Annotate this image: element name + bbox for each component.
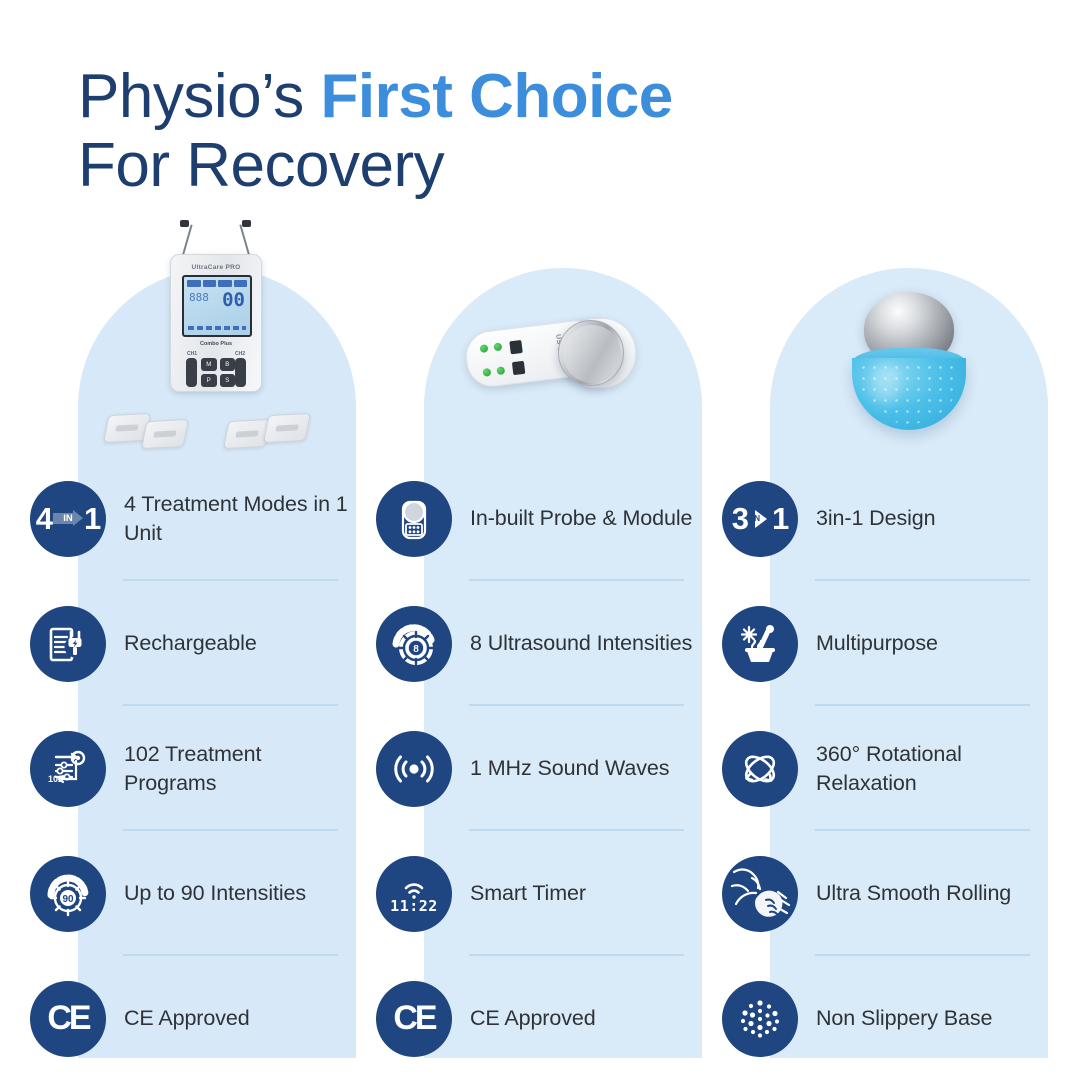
feature-row: CE CE Approved [424, 956, 702, 1080]
intensity-dial-icon: 90 [30, 856, 106, 932]
feature-label: Smart Timer [470, 879, 586, 907]
feature-row: 360° Rotational Relaxation [770, 706, 1048, 831]
badge-mid-text: IN [63, 513, 73, 524]
four-in-one-icon: 4 IN 1 [30, 481, 106, 557]
intensity-key-left [186, 358, 197, 387]
feature-label: Up to 90 Intensities [124, 879, 306, 907]
massage-hands-icon [722, 856, 798, 932]
feature-row: Ultra Smooth Rolling [770, 831, 1048, 956]
feature-row: Rechargeable [78, 581, 356, 706]
feature-row: 3 IN 1 3in-1 Design [770, 456, 1048, 581]
treatment-programs-settings-icon: 102 [30, 731, 106, 807]
key-b: B [220, 358, 236, 371]
hot-cold-multipurpose-icon [722, 606, 798, 682]
infographic-canvas: Physio’s First Choice For Recovery Ultra… [0, 0, 1080, 1080]
product-image-ultrasound-device: US 111 [424, 268, 702, 456]
key-s: S [220, 374, 236, 387]
ce-mark-text: CE [47, 999, 88, 1038]
badge-num-secondary: 1 [84, 501, 100, 537]
three-in-one-icon: 3 IN 1 [722, 481, 798, 557]
lcd-secondary-value: 888 [189, 292, 209, 304]
feature-label: Multipurpose [816, 629, 938, 657]
feature-list: 4 IN 1 4 Treatment Modes in 1 Unit [78, 456, 356, 1080]
probe-module-device-icon [376, 481, 452, 557]
feature-list: In-built Probe & Module [424, 456, 702, 1080]
sound-waves-icon [376, 731, 452, 807]
feature-label: 3in-1 Design [816, 504, 936, 532]
feature-label: 360° Rotational Relaxation [816, 740, 1048, 797]
page-title: Physio’s First Choice For Recovery [78, 62, 978, 201]
ultrasound-intensity-dial-icon: 8 [376, 606, 452, 682]
feature-row: 8 8 Ultrasound Intensities [424, 581, 702, 706]
intensity-key-right [235, 358, 246, 387]
feature-row: 4 IN 1 4 Treatment Modes in 1 Unit [78, 456, 356, 581]
ce-mark-icon: CE [30, 981, 106, 1057]
dotted-grip-base-icon [722, 981, 798, 1057]
feature-label: CE Approved [470, 1004, 596, 1032]
feature-row: 102 102 Treatment Programs [78, 706, 356, 831]
feature-label: 102 Treatment Programs [124, 740, 356, 797]
badge-mid-text: IN [752, 514, 760, 523]
feature-label: In-built Probe & Module [470, 504, 692, 532]
feature-label: 4 Treatment Modes in 1 Unit [124, 490, 356, 547]
badge-number: 11:22 [390, 897, 438, 915]
feature-row: 90 Up to 90 Intensities [78, 831, 356, 956]
device-lcd-screen: 888 00 [182, 275, 252, 337]
product-image-tens-unit: UltraCare PRO 888 00 Combo Plus CH1 CH2 … [78, 268, 356, 456]
badge-number: 102 [48, 774, 63, 784]
badge-num-primary: 3 [732, 501, 748, 537]
title-line-2: For Recovery [78, 131, 978, 200]
feature-label: Ultra Smooth Rolling [816, 879, 1011, 907]
badge-num-primary: 4 [36, 501, 52, 537]
device-brand-label: UltraCare PRO [171, 264, 261, 271]
feature-list: 3 IN 1 3in-1 Design [770, 456, 1048, 1080]
key-m: M [201, 358, 217, 371]
ce-mark-text: CE [393, 999, 434, 1038]
feature-row: CE CE Approved [78, 956, 356, 1080]
ce-mark-icon: CE [376, 981, 452, 1057]
title-line-1-accent: First Choice [320, 62, 672, 131]
feature-label: 1 MHz Sound Waves [470, 754, 669, 782]
lcd-main-value: 00 [222, 291, 245, 309]
feature-label: CE Approved [124, 1004, 250, 1032]
channel-1-label: CH1 [187, 351, 197, 357]
feature-row: 11:22 Smart Timer [424, 831, 702, 956]
feature-row: 1 MHz Sound Waves [424, 706, 702, 831]
feature-label: 8 Ultrasound Intensities [470, 629, 692, 657]
badge-number: 8 [413, 644, 419, 655]
feature-row: Non Slippery Base [770, 956, 1048, 1080]
device-model-label: Combo Plus [171, 341, 261, 347]
feature-label: Non Slippery Base [816, 1004, 992, 1032]
feature-row: Multipurpose [770, 581, 1048, 706]
device-control-panel [480, 339, 536, 379]
roller-textured-base [852, 358, 966, 430]
key-p: P [201, 374, 217, 387]
rotation-360-icon [722, 731, 798, 807]
channel-2-label: CH2 [235, 351, 245, 357]
title-line-1-plain: Physio’s [78, 62, 320, 131]
badge-number: 90 [62, 894, 74, 905]
product-image-massage-roller [770, 268, 1048, 456]
feature-row: In-built Probe & Module [424, 456, 702, 581]
smart-timer-icon: 11:22 [376, 856, 452, 932]
rechargeable-battery-plug-icon [30, 606, 106, 682]
feature-label: Rechargeable [124, 629, 257, 657]
electrode-pads [78, 408, 356, 456]
badge-num-secondary: 1 [772, 501, 788, 537]
device-keypad: M B P S [201, 358, 235, 387]
ultrasound-probe-head [558, 320, 624, 386]
